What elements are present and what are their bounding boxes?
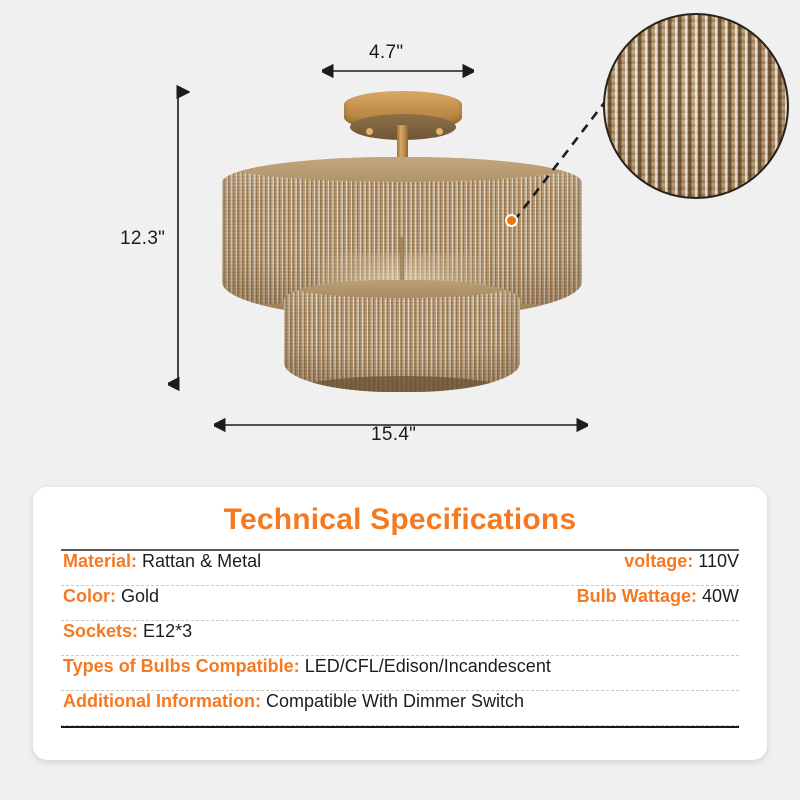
- table-row: Color: Gold Bulb Wattage: 40W: [61, 586, 739, 621]
- spec-key: Color:: [63, 586, 116, 607]
- technical-specifications-card: Technical Specifications Material: Ratta…: [33, 487, 767, 760]
- spec-cell-right: Bulb Wattage: 40W: [577, 586, 739, 607]
- spec-key: Additional Information:: [63, 691, 261, 712]
- product-diagram: 4.7" 12.3" 15.4": [0, 0, 800, 487]
- spec-key: voltage:: [624, 551, 693, 572]
- spec-value: 110V: [698, 551, 739, 572]
- spec-cell-left: Color: Gold: [63, 586, 159, 607]
- spec-cell-right: voltage: 110V: [624, 551, 739, 572]
- rope-weave-detail-circle: [603, 13, 789, 199]
- table-row: Sockets: E12*3: [61, 621, 739, 656]
- spec-cell-left: Additional Information: Compatible With …: [63, 691, 524, 712]
- top-width-label: 4.7": [369, 42, 403, 64]
- height-label: 12.3": [120, 228, 165, 250]
- spec-cell-left: Material: Rattan & Metal: [63, 551, 261, 572]
- lower-rope-shade-tier: [284, 280, 520, 392]
- callout-dot: [505, 214, 518, 227]
- height-dimension-arrow: [168, 82, 190, 394]
- canopy-screw-right: [436, 128, 443, 135]
- spec-card-title: Technical Specifications: [33, 503, 767, 537]
- spec-key: Types of Bulbs Compatible:: [63, 656, 300, 677]
- bottom-width-label: 15.4": [371, 424, 416, 446]
- table-row: Types of Bulbs Compatible: LED/CFL/Ediso…: [61, 656, 739, 691]
- spec-key: Bulb Wattage:: [577, 586, 697, 607]
- canopy-screw-left: [366, 128, 373, 135]
- spec-value: E12*3: [143, 621, 192, 642]
- spec-value: Rattan & Metal: [142, 551, 261, 572]
- table-row: Additional Information: Compatible With …: [61, 691, 739, 726]
- table-row: Material: Rattan & Metal voltage: 110V: [61, 551, 739, 586]
- spec-value: Compatible With Dimmer Switch: [266, 691, 524, 712]
- spec-value: LED/CFL/Edison/Incandescent: [305, 656, 551, 677]
- spec-key: Sockets:: [63, 621, 138, 642]
- specifications-table: Material: Rattan & Metal voltage: 110V C…: [61, 549, 739, 728]
- spec-cell-left: Types of Bulbs Compatible: LED/CFL/Ediso…: [63, 656, 551, 677]
- spec-value: Gold: [121, 586, 159, 607]
- lower-tier-open-bottom: [300, 376, 504, 392]
- spec-cell-left: Sockets: E12*3: [63, 621, 192, 642]
- spec-key: Material:: [63, 551, 137, 572]
- table-bottom-rule: [61, 726, 739, 728]
- spec-value: 40W: [702, 586, 739, 607]
- lower-tier-top-rim: [288, 280, 516, 298]
